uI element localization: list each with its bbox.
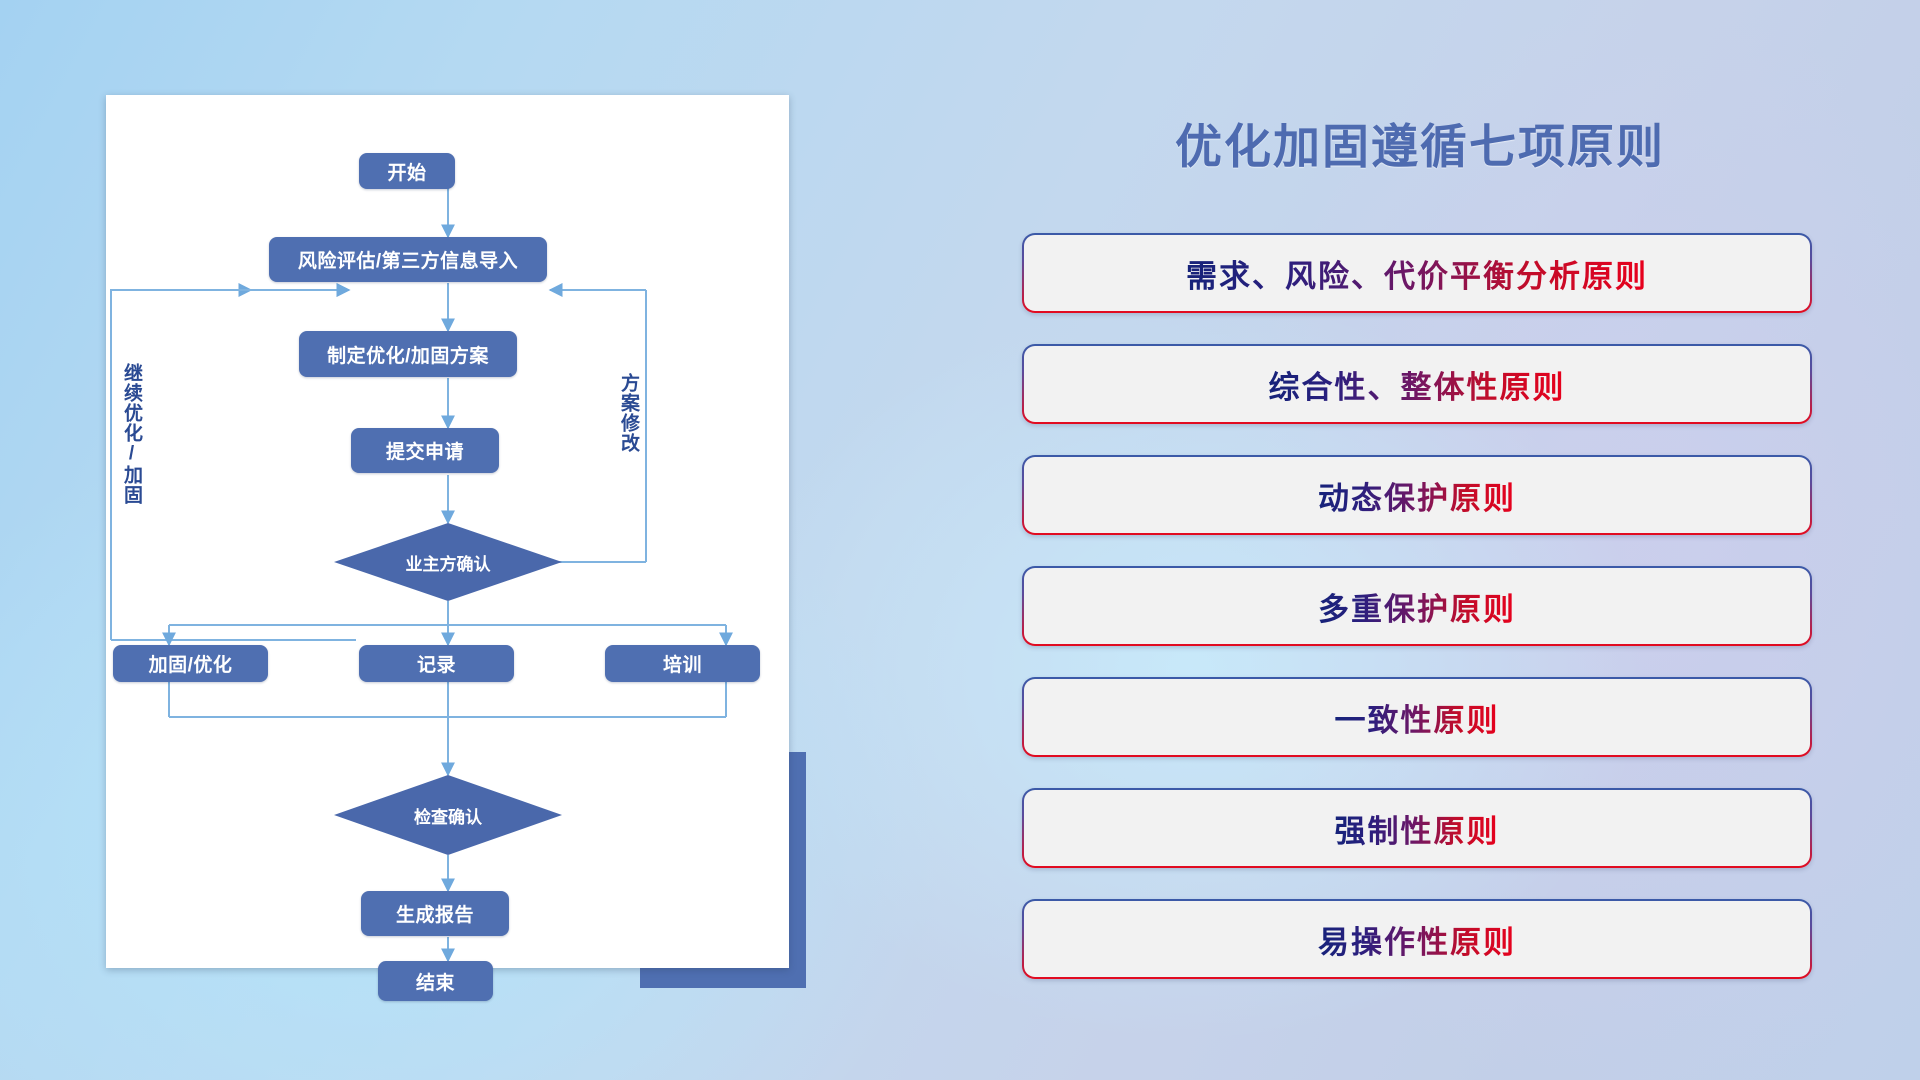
- flow-node-label: 记录: [417, 650, 456, 677]
- edge-label-continue-optimize: 继续优化/加固: [122, 363, 141, 543]
- principle-card-3[interactable]: 动态保护原则: [1022, 455, 1812, 535]
- principles-title: 优化加固遵循七项原则: [1130, 108, 1710, 177]
- principle-card-inner: 一致性原则: [1024, 679, 1810, 755]
- principle-card-inner: 易操作性原则: [1024, 901, 1810, 977]
- principle-card-5[interactable]: 一致性原则: [1022, 677, 1812, 757]
- flow-node-plan[interactable]: 制定优化/加固方案: [299, 331, 517, 377]
- principle-label: 强制性原则: [1335, 806, 1500, 851]
- principle-card-inner: 需求、风险、代价平衡分析原则: [1024, 235, 1810, 311]
- principle-card-inner: 强制性原则: [1024, 790, 1810, 866]
- principles-list: 需求、风险、代价平衡分析原则 综合性、整体性原则 动态保护原则 多重保护原则 一…: [1022, 233, 1812, 1010]
- flow-node-label: 培训: [663, 650, 702, 677]
- flow-node-risk-assessment[interactable]: 风险评估/第三方信息导入: [269, 237, 547, 282]
- flow-node-label: 生成报告: [396, 900, 474, 927]
- principle-card-7[interactable]: 易操作性原则: [1022, 899, 1812, 979]
- principle-card-inner: 多重保护原则: [1024, 568, 1810, 644]
- principle-card-inner: 综合性、整体性原则: [1024, 346, 1810, 422]
- flow-node-submit-application[interactable]: 提交申请: [351, 428, 499, 473]
- flow-node-generate-report[interactable]: 生成报告: [361, 891, 509, 936]
- flow-node-label: 检查确认: [414, 803, 482, 828]
- principle-label: 易操作性原则: [1318, 917, 1516, 962]
- principle-card-6[interactable]: 强制性原则: [1022, 788, 1812, 868]
- edge-label-plan-revision: 方案修改: [619, 373, 638, 503]
- flow-node-label: 开始: [387, 158, 426, 185]
- flow-node-record[interactable]: 记录: [359, 645, 514, 682]
- principle-card-inner: 动态保护原则: [1024, 457, 1810, 533]
- flow-node-label: 结束: [416, 968, 455, 995]
- flow-node-training[interactable]: 培训: [605, 645, 760, 682]
- principle-card-2[interactable]: 综合性、整体性原则: [1022, 344, 1812, 424]
- flowchart-card: 开始 风险评估/第三方信息导入 制定优化/加固方案 提交申请 业主方确认 加固/…: [106, 95, 789, 968]
- principle-label: 需求、风险、代价平衡分析原则: [1186, 251, 1648, 296]
- flow-node-label: 加固/优化: [149, 650, 233, 677]
- flow-node-label: 业主方确认: [406, 550, 491, 575]
- flow-node-end[interactable]: 结束: [378, 961, 493, 1001]
- flow-node-reinforce-optimize[interactable]: 加固/优化: [113, 645, 268, 682]
- principle-label: 多重保护原则: [1318, 584, 1516, 629]
- flow-node-label: 提交申请: [386, 437, 464, 464]
- principle-label: 综合性、整体性原则: [1269, 362, 1566, 407]
- principle-card-1[interactable]: 需求、风险、代价平衡分析原则: [1022, 233, 1812, 313]
- principle-card-4[interactable]: 多重保护原则: [1022, 566, 1812, 646]
- slide-canvas: 开始 风险评估/第三方信息导入 制定优化/加固方案 提交申请 业主方确认 加固/…: [0, 0, 1920, 1080]
- principle-label: 动态保护原则: [1318, 473, 1516, 518]
- flow-node-label: 制定优化/加固方案: [327, 341, 489, 368]
- flow-node-label: 风险评估/第三方信息导入: [298, 246, 518, 273]
- principle-label: 一致性原则: [1335, 695, 1500, 740]
- flow-node-start[interactable]: 开始: [359, 153, 455, 189]
